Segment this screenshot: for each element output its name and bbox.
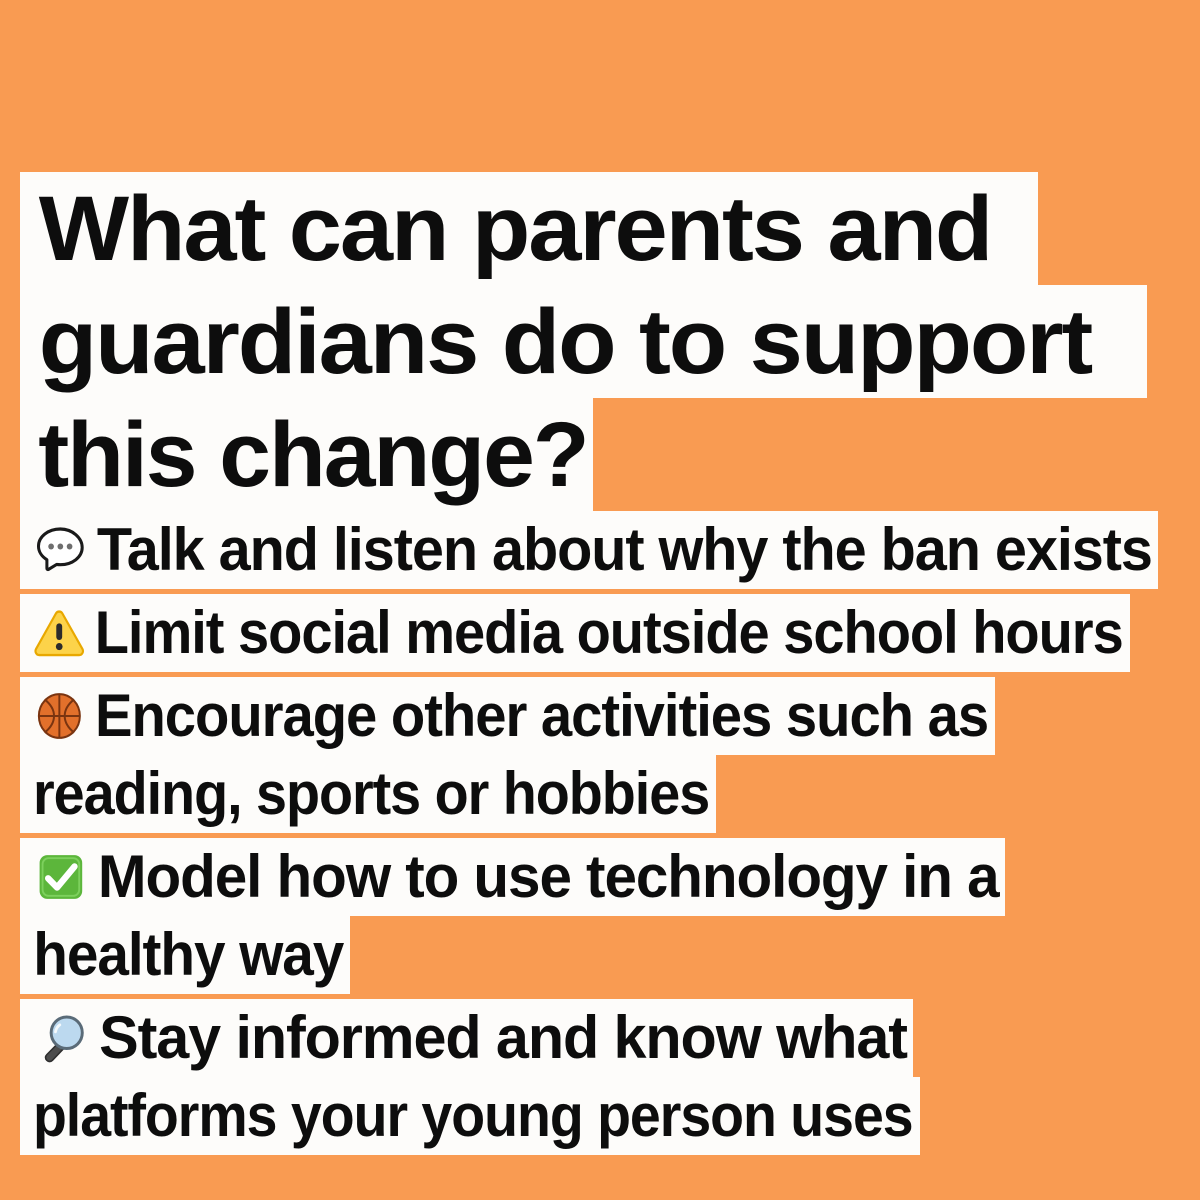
- bullet-1-text: Talk and listen about why the ban exists: [97, 519, 1152, 581]
- bullet-5-text-line-2: platforms your young person uses: [20, 1085, 913, 1147]
- heading-line-1-text: What can parents and: [20, 183, 991, 275]
- bullet-4-text-line-1: Model how to use technology in a: [98, 846, 999, 908]
- bullet-5-text-line-1: Stay informed and know what: [99, 1007, 907, 1069]
- bullet-3-text-line-2: reading, sports or hobbies: [20, 763, 709, 825]
- bullet-3-row-line-1: Encourage other activities such as: [20, 677, 995, 755]
- heading-line-1: What can parents and: [20, 172, 1038, 285]
- speech-balloon-icon: [33, 522, 87, 578]
- heading-line-3: this change?: [20, 398, 593, 511]
- heading-line-3-text: this change?: [20, 409, 588, 501]
- bullet-1-row: Talk and listen about why the ban exists: [20, 511, 1158, 589]
- magnifying-glass-icon: [34, 1010, 89, 1066]
- basketball-icon: [33, 688, 85, 744]
- social-media-ban-parent-guidance-card: What can parents and guardians do to sup…: [0, 0, 1200, 1200]
- check-mark-button-icon: [34, 849, 89, 905]
- bullet-5-row-line-2: platforms your young person uses: [20, 1077, 920, 1155]
- bullet-3-row-line-2: reading, sports or hobbies: [20, 755, 716, 833]
- bullet-4-row-line-1: Model how to use technology in a: [20, 838, 1005, 916]
- bullet-4-text-line-2: healthy way: [20, 924, 343, 986]
- bullet-5-row-line-1: Stay informed and know what: [20, 999, 913, 1077]
- warning-triangle-icon: [33, 605, 85, 661]
- heading-line-2: guardians do to support: [20, 285, 1147, 398]
- bullet-2-text: Limit social media outside school hours: [95, 602, 1123, 664]
- heading-line-2-text: guardians do to support: [20, 296, 1091, 388]
- bullet-4-row-line-2: healthy way: [20, 916, 350, 994]
- bullet-3-text-line-1: Encourage other activities such as: [95, 685, 988, 747]
- bullet-2-row: Limit social media outside school hours: [20, 594, 1130, 672]
